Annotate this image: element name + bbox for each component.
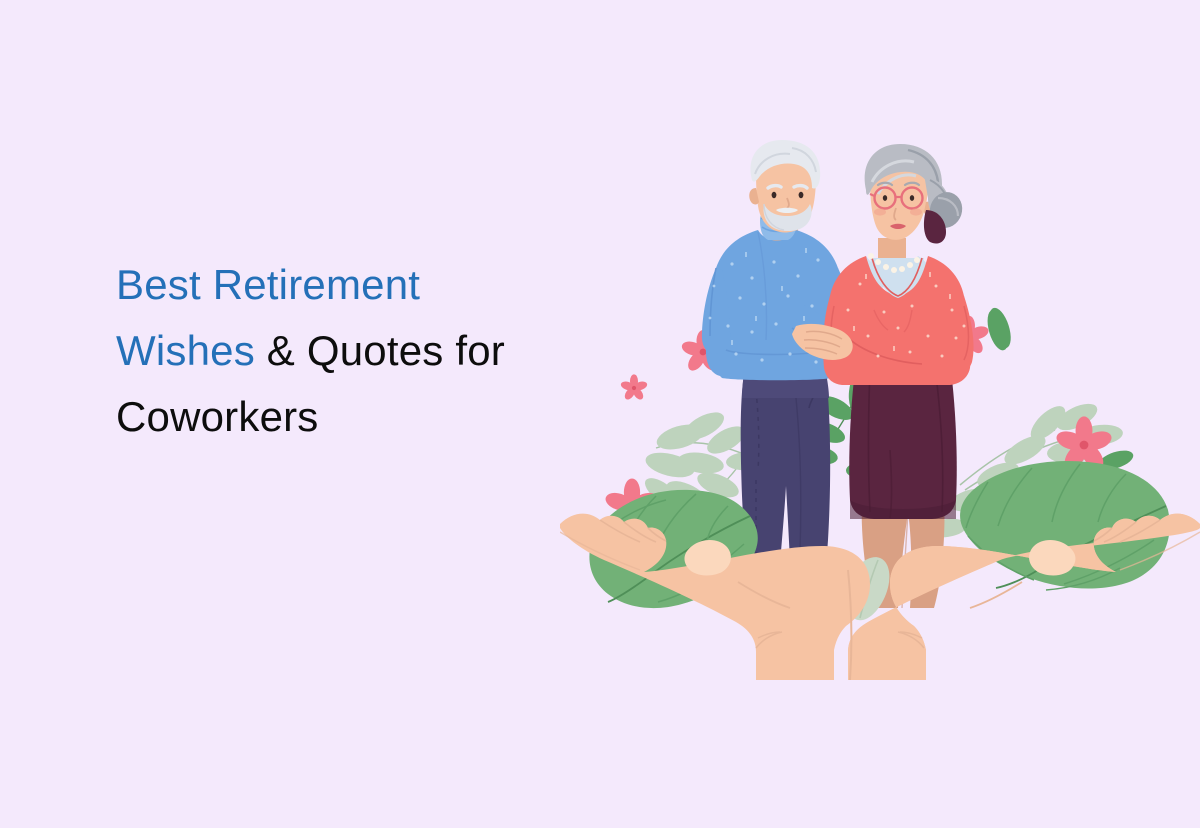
man-eye-left — [772, 192, 777, 198]
illustration-svg — [560, 140, 1200, 680]
title-line-2-accent: Wishes — [116, 327, 255, 374]
title-line-3: Coworkers — [116, 384, 586, 450]
page-title: Best Retirement Wishes & Quotes for Cowo… — [116, 252, 586, 450]
title-line-3-plain: Coworkers — [116, 393, 319, 440]
title-line-1-accent: Best Retirement — [116, 261, 420, 308]
woman-eye-right — [910, 195, 914, 201]
banner-root: Best Retirement Wishes & Quotes for Cowo… — [0, 0, 1200, 828]
woman-skirt — [849, 362, 957, 519]
title-line-2: Wishes & Quotes for — [116, 318, 586, 384]
title-line-2-plain: & Quotes for — [255, 327, 505, 374]
sage-branch-right-group — [975, 140, 1200, 440]
pink-flower-small-left — [620, 374, 648, 401]
title-line-1: Best Retirement — [116, 252, 586, 318]
woman-eye-left — [883, 195, 887, 201]
elderly-couple-in-cupped-hands-illustration — [560, 140, 1200, 680]
elderly-woman — [823, 144, 973, 608]
man-eye-right — [799, 192, 804, 198]
